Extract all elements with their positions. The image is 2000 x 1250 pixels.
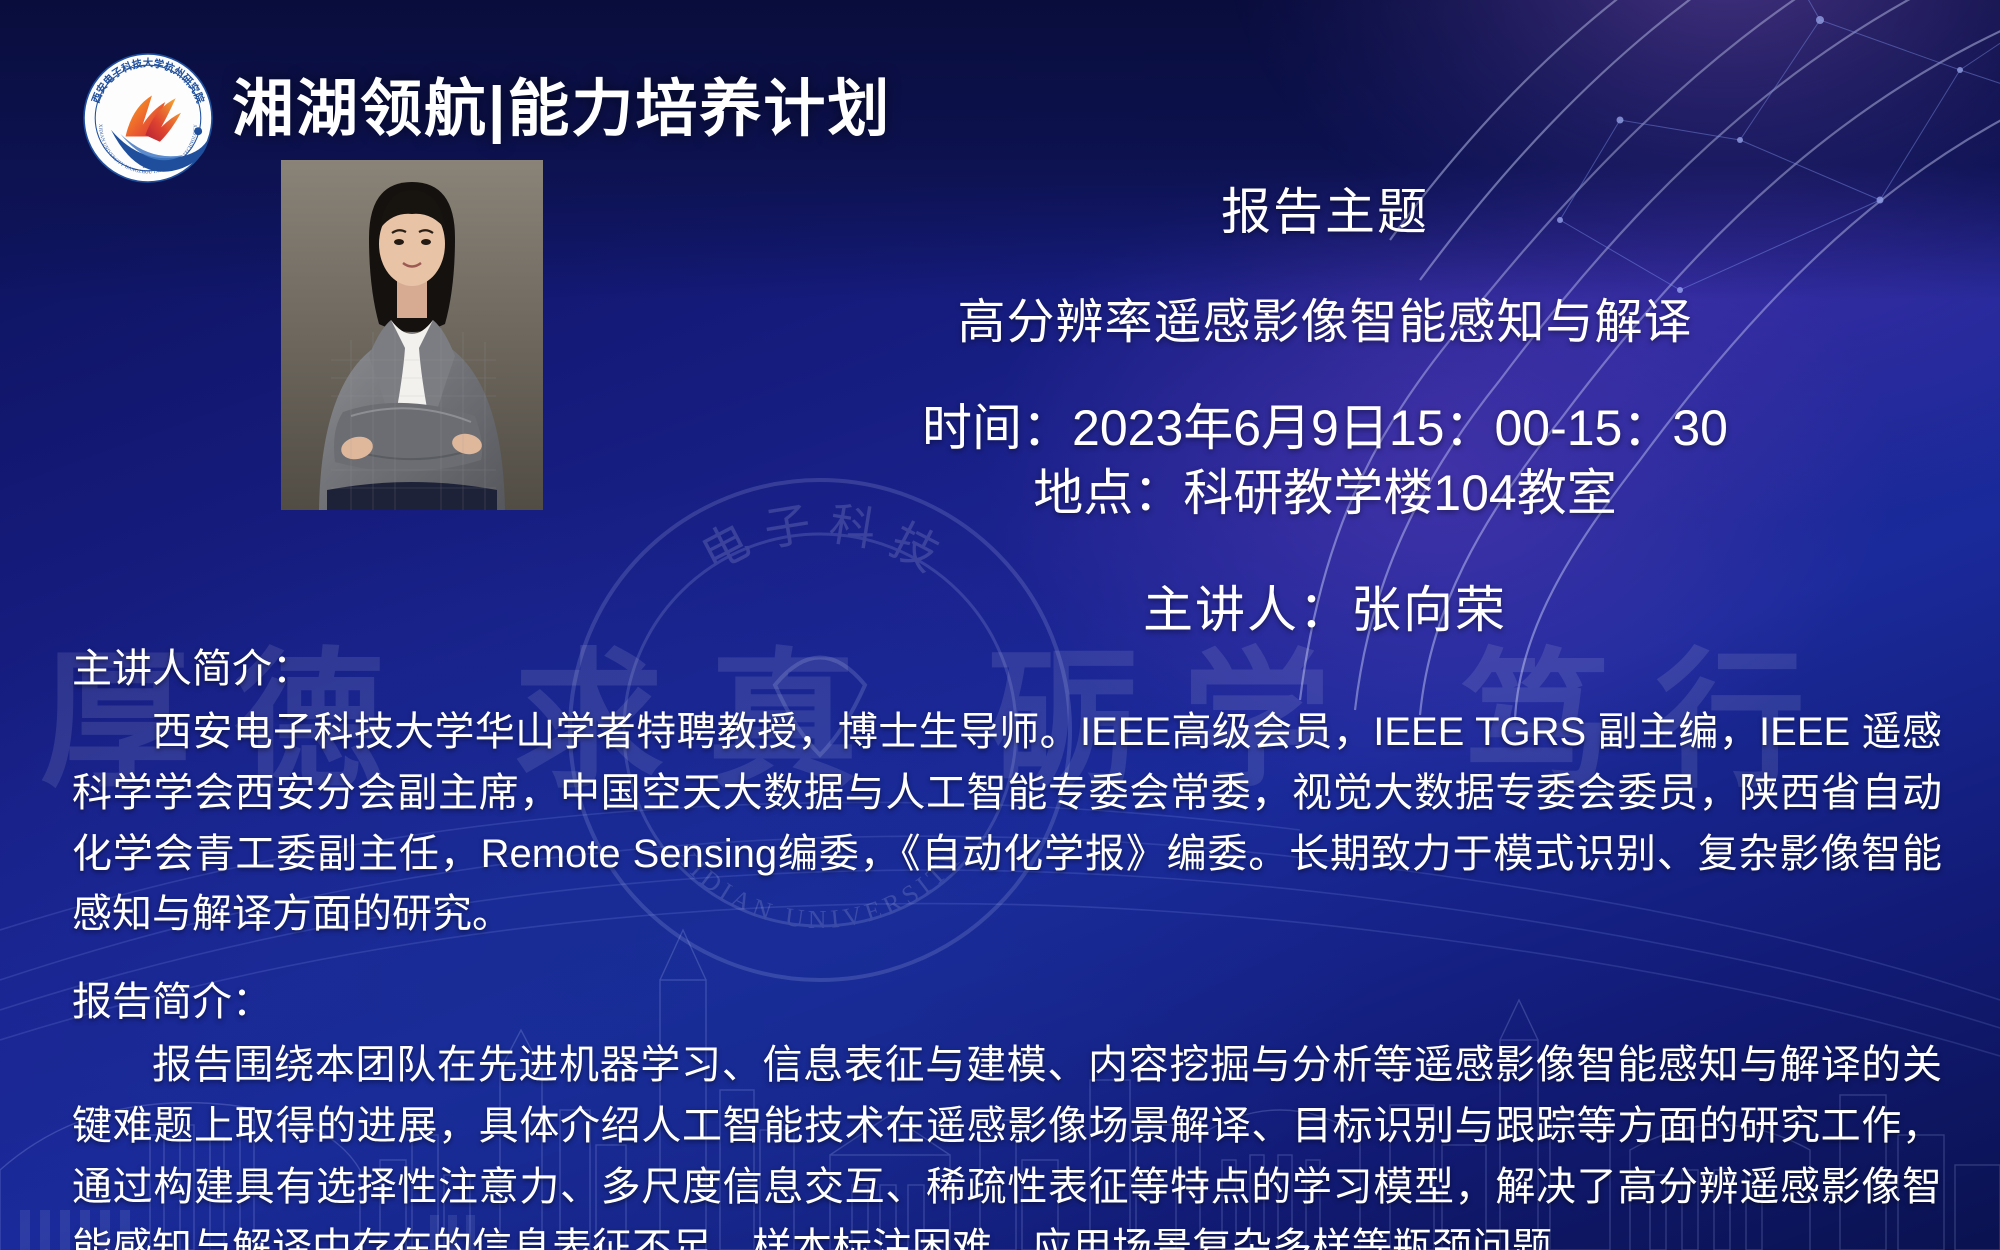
abstract-label: 报告简介： <box>72 973 1942 1031</box>
bio-paragraph: 西安电子科技大学华山学者特聘教授，博士生导师。IEEE高级会员，IEEE TGR… <box>72 702 1942 945</box>
poster-body: 主讲人简介： 西安电子科技大学华山学者特聘教授，博士生导师。IEEE高级会员，I… <box>72 640 1942 1250</box>
event-speaker: 主讲人：张向荣 <box>700 570 1950 642</box>
portrait-illustration <box>281 160 543 510</box>
university-logo-icon: 西安电子科技大学杭州研究院 XIDIAN UNIVERSITY HANGZHOU… <box>82 52 214 184</box>
seminar-poster: 电 子 科 技 XIDIAN UNIVERSITY 厚德 求真 砺学 笃行 <box>0 0 2000 1250</box>
topic-title: 高分辨率遥感影像智能感知与解译 <box>700 282 1950 352</box>
event-time: 时间：2023年6月9日15：00-15：30 <box>700 398 1950 459</box>
event-place: 地点：科研教学楼104教室 <box>700 463 1950 524</box>
page-title: 湘湖领航|能力培养计划 <box>232 58 891 148</box>
topic-label: 报告主题 <box>700 172 1950 244</box>
bio-label: 主讲人简介： <box>72 640 1942 698</box>
poster-header: 西安电子科技大学杭州研究院 XIDIAN UNIVERSITY HANGZHOU… <box>0 0 2000 170</box>
event-info-block: 报告主题 高分辨率遥感影像智能感知与解译 时间：2023年6月9日15：00-1… <box>700 172 1950 642</box>
abstract-paragraph: 报告围绕本团队在先进机器学习、信息表征与建模、内容挖掘与分析等遥感影像智能感知与… <box>72 1035 1942 1250</box>
speaker-portrait <box>281 160 543 510</box>
